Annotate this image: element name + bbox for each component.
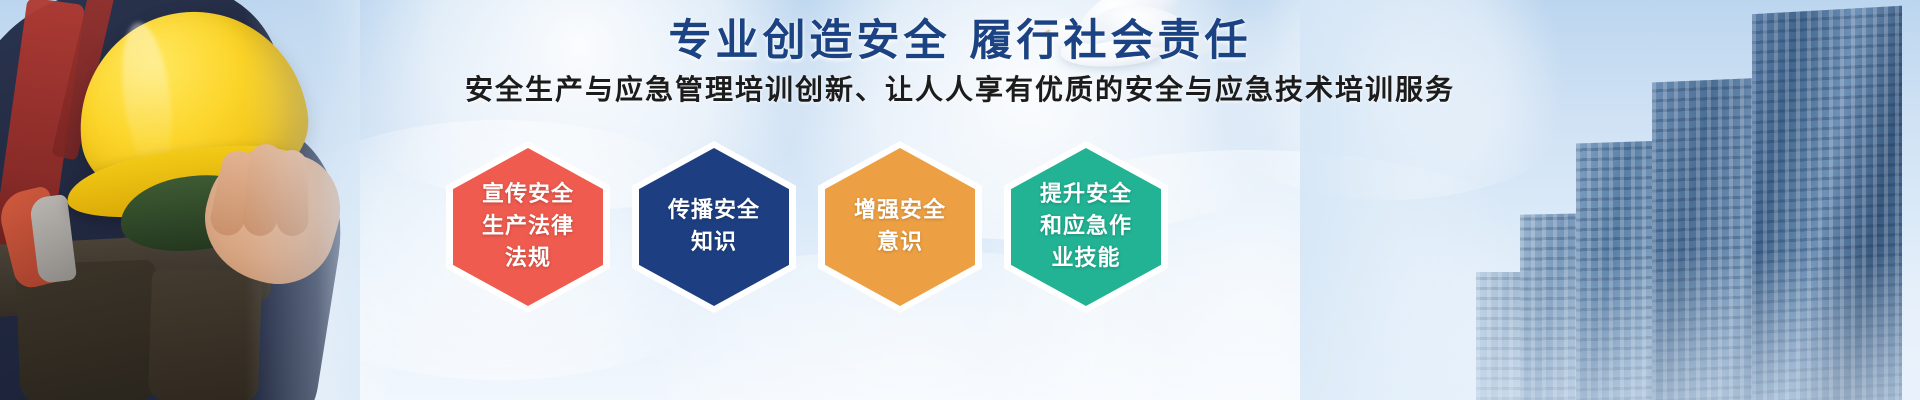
page-subtitle: 安全生产与应急管理培训创新、让人人享有优质的安全与应急技术培训服务 [0,68,1920,108]
badge-promote-safety-law[interactable]: 宣传安全生产法律法规 [446,141,610,313]
haze-overlay [1300,250,1920,400]
badge-row: 宣传安全生产法律法规 传播安全知识 增强安全意识 提升安全和应急作业技能 [446,141,1186,311]
badge-enhance-safety-awareness[interactable]: 增强安全意识 [818,141,982,313]
badge-spread-safety-knowledge[interactable]: 传播安全知识 [632,141,796,313]
safety-training-banner: 专业创造安全 履行社会责任 安全生产与应急管理培训创新、让人人享有优质的安全与应… [0,0,1920,400]
badge-improve-emergency-skills[interactable]: 提升安全和应急作业技能 [1004,141,1168,313]
badge-label: 提升安全和应急作业技能 [1030,179,1142,275]
badge-label: 传播安全知识 [658,195,770,259]
badge-label: 宣传安全生产法律法规 [472,179,584,275]
page-title: 专业创造安全 履行社会责任 [0,6,1920,68]
badge-label: 增强安全意识 [844,195,956,259]
